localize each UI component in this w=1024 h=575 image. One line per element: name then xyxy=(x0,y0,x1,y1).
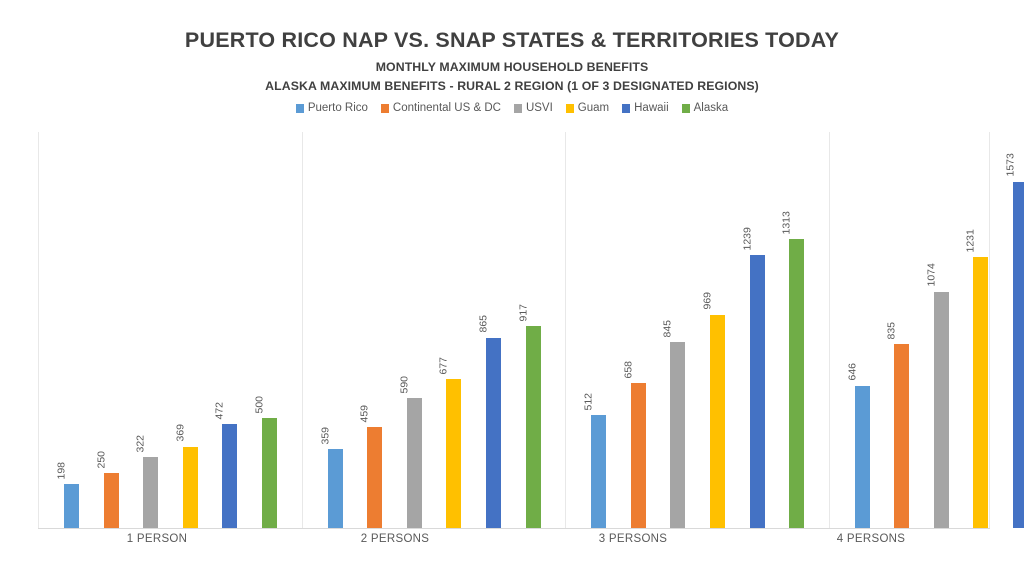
bar-slot: 1313 xyxy=(789,132,829,528)
bar[interactable] xyxy=(446,379,461,528)
bar-slot: 1074 xyxy=(934,132,974,528)
title-block: PUERTO RICO NAP VS. SNAP STATES & TERRIT… xyxy=(0,28,1024,96)
category-axis-labels: 1 PERSON2 PERSONS3 PERSONS4 PERSONS xyxy=(38,533,990,545)
group-separator-line xyxy=(829,132,830,528)
legend-swatch-icon xyxy=(622,104,630,113)
bar-slot: 1231 xyxy=(973,132,1013,528)
legend-item-hawaii[interactable]: Hawaii xyxy=(622,103,669,115)
bar-slot: 472 xyxy=(222,132,262,528)
legend-swatch-icon xyxy=(296,104,304,113)
bar[interactable] xyxy=(262,418,277,528)
bar[interactable] xyxy=(591,415,606,528)
bar-value-label: 845 xyxy=(663,323,674,337)
bar[interactable] xyxy=(1013,182,1024,528)
bar[interactable] xyxy=(750,255,765,528)
legend-label: USVI xyxy=(526,103,553,115)
bar-value-label: 459 xyxy=(360,408,371,422)
bar-group: 51265884596912391313 xyxy=(565,132,829,528)
bar[interactable] xyxy=(934,292,949,528)
bar-value-label: 1239 xyxy=(742,236,753,250)
category-label: 3 PERSONS xyxy=(514,533,752,545)
bar-value-label: 369 xyxy=(175,428,186,442)
bar-slot: 512 xyxy=(591,132,631,528)
bar-slot: 865 xyxy=(486,132,526,528)
category-label: 1 PERSON xyxy=(38,533,276,545)
bar-group: 359459590677865917 xyxy=(302,132,566,528)
bar-value-label: 969 xyxy=(702,296,713,310)
bar-value-label: 198 xyxy=(57,465,68,479)
legend-swatch-icon xyxy=(682,104,690,113)
bar-value-label: 917 xyxy=(518,307,529,321)
bar[interactable] xyxy=(486,338,501,528)
bar-slot: 322 xyxy=(143,132,183,528)
bar-slot: 369 xyxy=(183,132,223,528)
bar-slot: 590 xyxy=(407,132,447,528)
bar[interactable] xyxy=(222,424,237,528)
legend-swatch-icon xyxy=(381,104,389,113)
bar-value-label: 359 xyxy=(320,430,331,444)
bar-slot: 1239 xyxy=(750,132,790,528)
chart-subtitle: MONTHLY MAXIMUM HOUSEHOLD BENEFITS xyxy=(0,58,1024,76)
bar[interactable] xyxy=(710,315,725,528)
bar[interactable] xyxy=(526,326,541,528)
chart-title: PUERTO RICO NAP VS. SNAP STATES & TERRIT… xyxy=(0,28,1024,53)
bar-value-label: 500 xyxy=(254,399,265,413)
bar-slot: 835 xyxy=(894,132,934,528)
bar-slot: 500 xyxy=(262,132,302,528)
bar-value-label: 1074 xyxy=(926,273,937,287)
category-label: 2 PERSONS xyxy=(276,533,514,545)
bar[interactable] xyxy=(64,484,79,528)
legend-label: Continental US & DC xyxy=(393,103,501,115)
group-separator-line xyxy=(302,132,303,528)
category-label: 4 PERSONS xyxy=(752,533,990,545)
bar-slot: 969 xyxy=(710,132,750,528)
bar[interactable] xyxy=(789,239,804,528)
legend-swatch-icon xyxy=(514,104,522,113)
bar-value-label: 1231 xyxy=(966,238,977,252)
bar-value-label: 1313 xyxy=(782,220,793,234)
bar-slot: 845 xyxy=(670,132,710,528)
legend-label: Guam xyxy=(578,103,609,115)
bar-group: 6468351074123115731667 xyxy=(829,132,1024,528)
bar-value-label: 658 xyxy=(623,364,634,378)
bar-value-label: 512 xyxy=(584,396,595,410)
legend-item-guam[interactable]: Guam xyxy=(566,103,609,115)
legend-item-alaska[interactable]: Alaska xyxy=(682,103,729,115)
bar-slot: 917 xyxy=(526,132,566,528)
bar[interactable] xyxy=(367,427,382,528)
bar-slot: 359 xyxy=(328,132,368,528)
bar-value-label: 472 xyxy=(215,405,226,419)
legend-item-usvi[interactable]: USVI xyxy=(514,103,553,115)
bar[interactable] xyxy=(183,447,198,528)
bar-slot: 250 xyxy=(104,132,144,528)
bar-value-label: 590 xyxy=(399,379,410,393)
legend-item-continental-us-dc[interactable]: Continental US & DC xyxy=(381,103,501,115)
bar-value-label: 835 xyxy=(887,325,898,339)
bar-groups: 1982503223694725003594595906778659175126… xyxy=(38,132,990,528)
bar[interactable] xyxy=(407,398,422,528)
bar[interactable] xyxy=(631,383,646,528)
bar[interactable] xyxy=(855,386,870,528)
chart-subtitle-secondary: ALASKA MAXIMUM BENEFITS - RURAL 2 REGION… xyxy=(0,77,1024,95)
bar-value-label: 1573 xyxy=(1006,163,1017,177)
legend-item-puerto-rico[interactable]: Puerto Rico xyxy=(296,103,368,115)
bar-slot: 459 xyxy=(367,132,407,528)
category-axis-line xyxy=(38,528,990,529)
bar[interactable] xyxy=(973,257,988,528)
bar-value-label: 322 xyxy=(136,438,147,452)
bar-value-label: 677 xyxy=(439,360,450,374)
bar[interactable] xyxy=(104,473,119,528)
legend-label: Puerto Rico xyxy=(308,103,368,115)
bar-group: 198250322369472500 xyxy=(38,132,302,528)
bar[interactable] xyxy=(894,344,909,528)
bar-slot: 198 xyxy=(64,132,104,528)
chart-legend: Puerto RicoContinental US & DCUSVIGuamHa… xyxy=(0,103,1024,115)
chart-container: PUERTO RICO NAP VS. SNAP STATES & TERRIT… xyxy=(0,0,1024,575)
plot-area: 1982503223694725003594595906778659175126… xyxy=(38,132,990,528)
bar[interactable] xyxy=(670,342,685,528)
legend-label: Alaska xyxy=(694,103,729,115)
group-separator-line xyxy=(565,132,566,528)
bar[interactable] xyxy=(143,457,158,528)
bar-value-label: 865 xyxy=(478,319,489,333)
bar-slot: 1573 xyxy=(1013,132,1024,528)
legend-swatch-icon xyxy=(566,104,574,113)
legend-label: Hawaii xyxy=(634,103,669,115)
bar-value-label: 646 xyxy=(847,367,858,381)
bar[interactable] xyxy=(328,449,343,528)
bar-value-label: 250 xyxy=(96,454,107,468)
